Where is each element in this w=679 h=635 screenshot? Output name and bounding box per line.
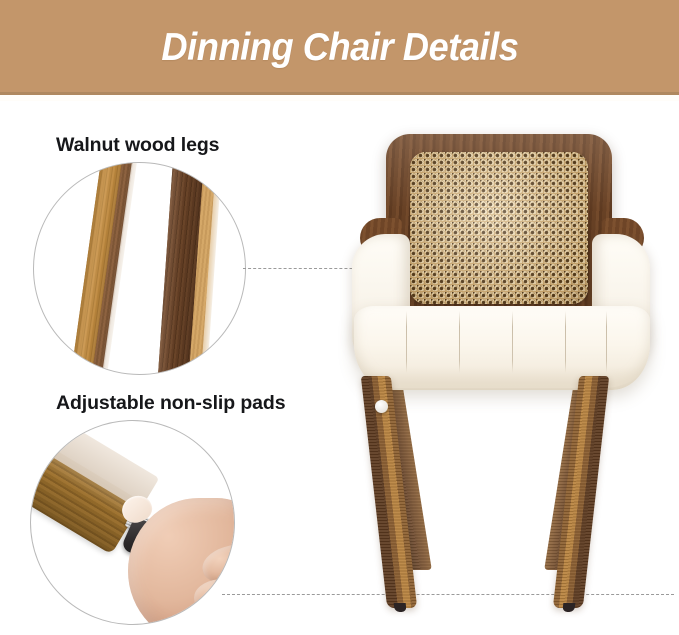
inset-circle-walnut-wood-legs — [33, 162, 246, 375]
seat-tuft-seam — [459, 311, 460, 373]
banner-underline — [0, 95, 679, 101]
seat-tuft-seam — [512, 311, 513, 373]
seat-tuft-seam — [406, 311, 407, 373]
seat-tuft-seam — [565, 311, 566, 373]
pad-marker-dot-icon — [375, 400, 388, 413]
header-banner: Dinning Chair Details — [0, 0, 679, 95]
foot-pad-cap — [394, 603, 407, 612]
chair-product-photo — [330, 118, 675, 618]
foot-pad-cap — [562, 603, 575, 612]
seat-tuft-seam — [606, 311, 607, 373]
chair-backrest-frame — [386, 134, 612, 326]
inset-circle-adjustable-non-slip-pads — [30, 420, 235, 625]
callout-label-walnut-wood-legs: Walnut wood legs — [56, 134, 219, 157]
page-title: Dinning Chair Details — [161, 26, 518, 70]
cane-shading — [410, 152, 588, 304]
callout-label-adjustable-non-slip-pads: Adjustable non-slip pads — [56, 392, 285, 415]
cane-panel — [410, 152, 588, 304]
product-detail-image: Dinning Chair Details Walnut wood legs A… — [0, 0, 679, 635]
